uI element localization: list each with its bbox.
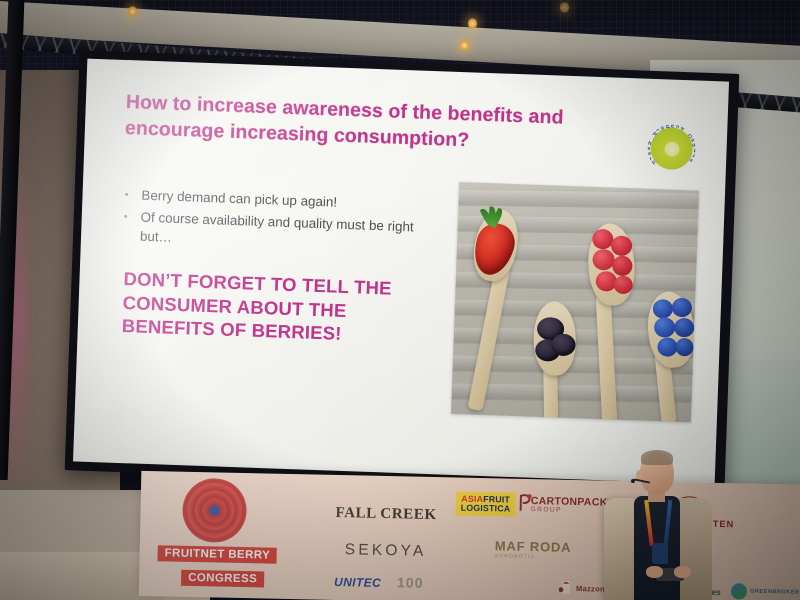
congress-title-line2: CONGRESS [181, 570, 264, 588]
ring-char: e [679, 125, 686, 131]
bullet-marker-icon: • [124, 185, 129, 205]
fresh-produce-centre-logo: Fresh Produce Centre [642, 119, 702, 179]
mazzoni-mark-icon [559, 576, 573, 594]
sponsor-logo-sekoya: SEKOYA [345, 541, 427, 561]
sponsor-logo-asia-fruit-logistica: ASIAFRUIT LOGISTICA [456, 491, 516, 517]
ceiling-spotlight [468, 18, 477, 29]
list-item: • Of course availability and quality mus… [123, 207, 419, 256]
sponsor-logo-cartonpack: CARTONPACK GROUP [531, 496, 608, 516]
ring-char: e [688, 156, 694, 163]
berry-photo [451, 182, 699, 422]
sponsor-logo-fall-creek: FALL CREEK [335, 505, 436, 524]
presenter [598, 448, 718, 600]
congress-title-line1: FRUITNET BERRY [157, 545, 277, 563]
hand-left [646, 566, 663, 578]
conference-photo-scene: How to increase awareness of the benefit… [0, 0, 800, 600]
sponsor-logo-maf-roda: MAF RODA AGROBOTIC [495, 538, 572, 561]
ceiling-spotlight [460, 40, 469, 51]
maf-roda-name: MAF RODA [495, 538, 572, 555]
sponsor-logo-greenbrokers: GREENBROKERS [750, 589, 800, 596]
headset-mic-capsule-icon [631, 479, 635, 483]
ceiling-spotlight [128, 6, 137, 17]
sponsor-logo-unitec: UNITEC [334, 575, 381, 590]
logo-ring-text: Fresh Produce Centre [642, 119, 702, 179]
greenbrokers-mark-icon [731, 583, 747, 599]
fruitnet-target-logo [182, 478, 247, 543]
bullet-marker-icon: • [123, 207, 128, 227]
name-badge [652, 543, 668, 564]
ring-char: h [647, 140, 652, 147]
hair [641, 450, 673, 465]
hand-right [674, 566, 691, 578]
afl-logistica: LOGISTICA [461, 504, 511, 514]
bullet-text: Of course availability and quality must … [140, 208, 419, 256]
ceiling-spotlight [560, 2, 569, 13]
projection-screen: How to increase awareness of the benefit… [65, 50, 740, 493]
slide-bullet-list: • Berry demand can pick up again! • Of c… [123, 185, 420, 258]
slide-title: How to increase awareness of the benefit… [124, 90, 581, 158]
slide-call-to-action: DON’T FORGET TO TELL THE CONSUMER ABOUT … [121, 267, 423, 349]
slide-surface: How to increase awareness of the benefit… [73, 59, 729, 485]
sponsor-logo-icc: 100 [397, 574, 424, 591]
